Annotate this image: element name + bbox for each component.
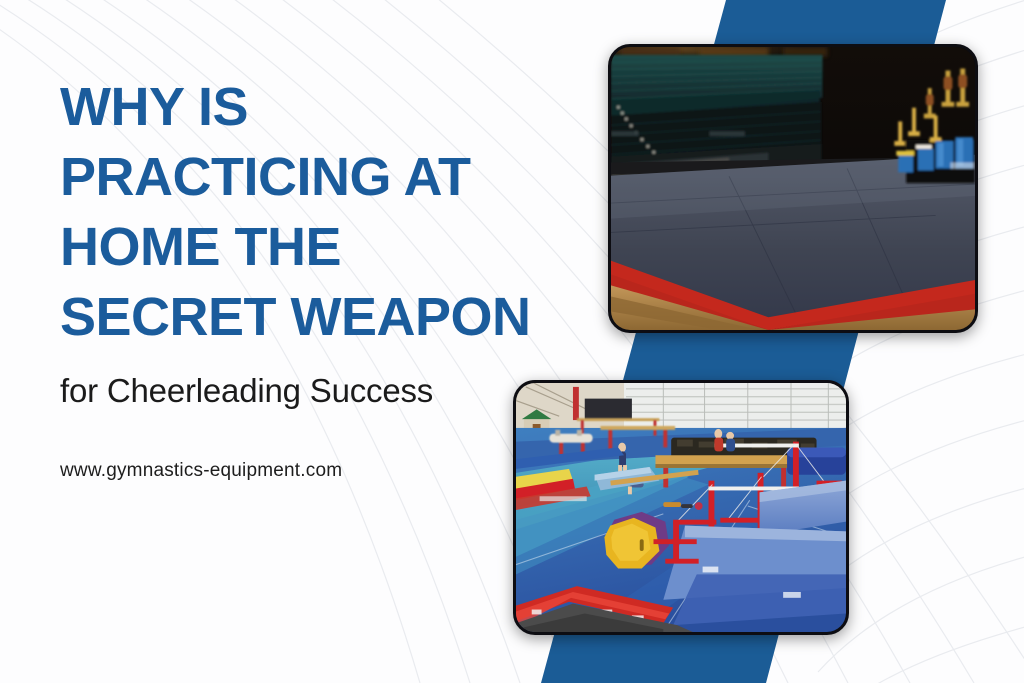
headline-line-2: PRACTICING AT [60, 142, 590, 212]
website-url[interactable]: www.gymnastics-equipment.com [60, 460, 342, 482]
headline-line-4: SECRET WEAPON [60, 282, 590, 352]
gymnastics-training-gym-photo [513, 380, 849, 635]
headline-line-3: HOME THE [60, 212, 590, 282]
headline-line-1: WHY IS [60, 72, 590, 142]
page-title: WHY IS PRACTICING AT HOME THE SECRET WEA… [60, 72, 590, 352]
headline-block: WHY IS PRACTICING AT HOME THE SECRET WEA… [60, 72, 590, 412]
subtitle: for Cheerleading Success [60, 370, 590, 412]
banner-canvas: WHY IS PRACTICING AT HOME THE SECRET WEA… [0, 0, 1024, 683]
gymnastics-competition-arena-photo [608, 44, 978, 333]
